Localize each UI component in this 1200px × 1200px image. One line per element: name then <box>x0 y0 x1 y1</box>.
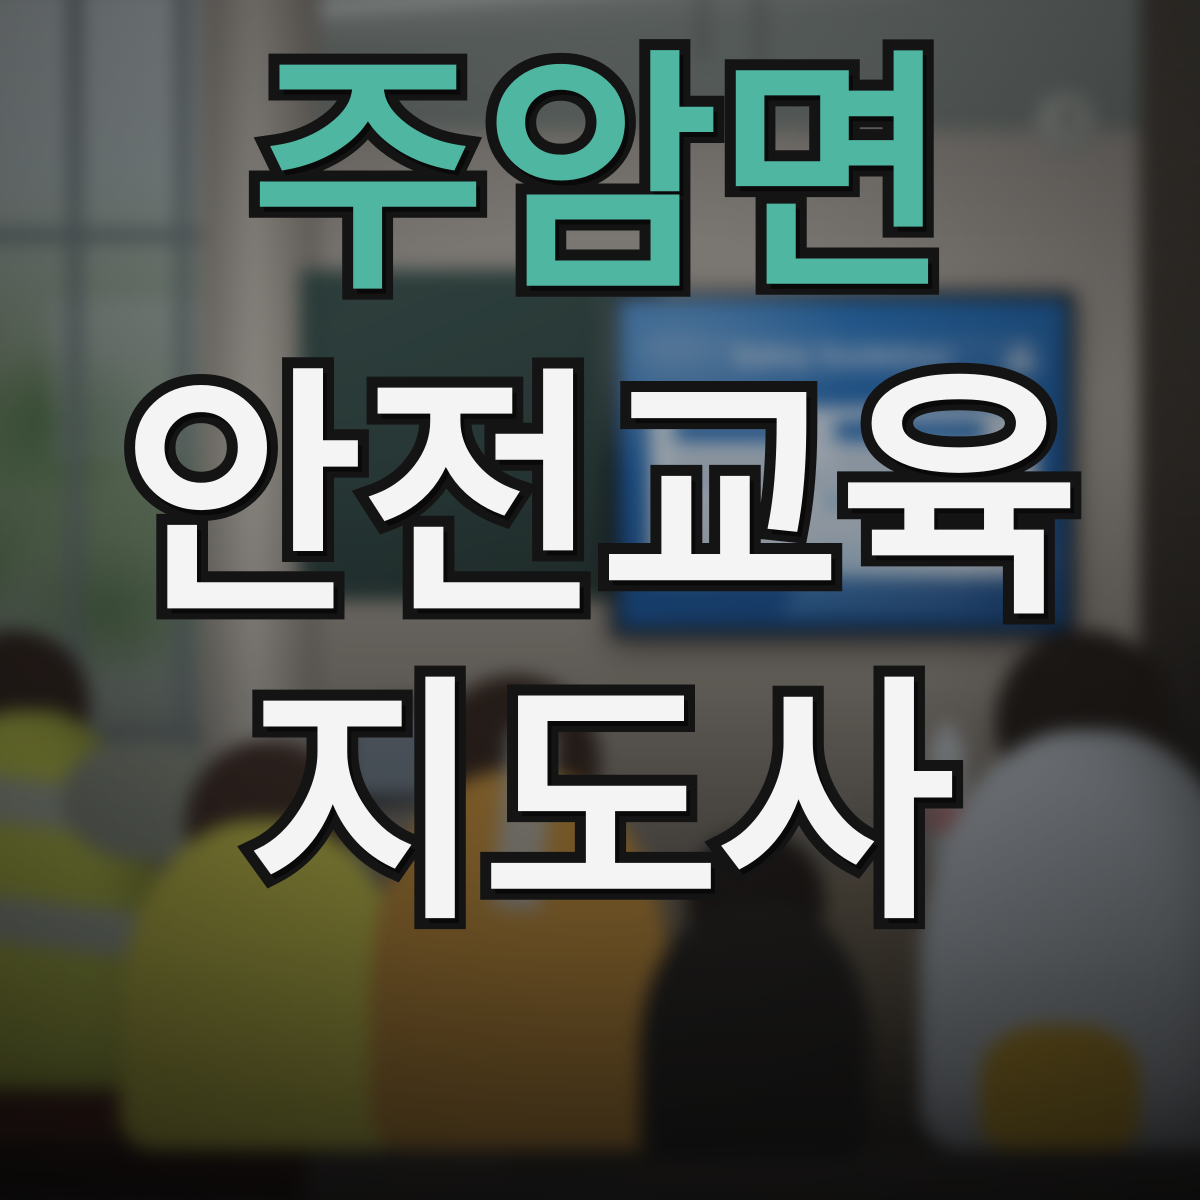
headline-line-2: 안전교육 <box>122 376 1078 622</box>
headline-line-1: 주암면 <box>251 58 949 298</box>
headline-block: 주암면 안전교육 지도사 <box>0 0 1200 1200</box>
headline-line-3: 지도사 <box>247 684 953 927</box>
poster-card: Safety Guidelines <box>0 0 1200 1200</box>
